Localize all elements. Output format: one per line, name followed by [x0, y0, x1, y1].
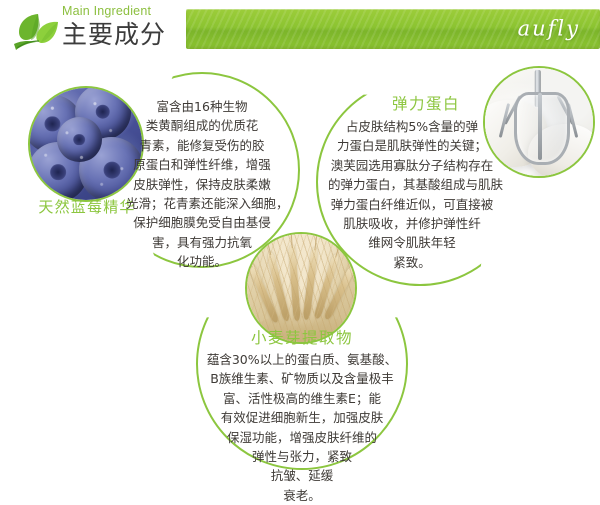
elastin-title: 弹力蛋白 [356, 92, 496, 114]
text-line: 富含由16种生物 [126, 97, 278, 116]
header-english-title: Main Ingredient [62, 4, 166, 19]
text-line: 衰老。 [192, 486, 412, 505]
text-line: 弹力蛋白纤维近似，可直接被 [328, 195, 496, 214]
whisk-cream-photo [483, 66, 595, 178]
text-line: B族维生素、矿物质以及含量极丰 [192, 369, 412, 388]
text-line: 力蛋白是肌肤弹性的关键； [328, 136, 496, 155]
text-line: 青素，能修复受伤的胶 [126, 136, 278, 155]
text-line: 澳芙园选用寡肽分子结构存在 [328, 156, 496, 175]
text-line: 光滑；花青素还能深入细胞， [126, 194, 278, 213]
wheat-germ-description: 蕴含30%以上的蛋白质、氨基酸、 B族维生素、矿物质以及含量极丰 富、活性极高的… [192, 350, 412, 505]
text-line: 抗皱、延缓 [192, 466, 412, 485]
text-line: 占皮肤结构5%含量的弹 [328, 117, 496, 136]
text-line: 有效促进细胞新生，加强皮肤 [192, 408, 412, 427]
text-line: 的弹力蛋白，其基酸组成与肌肤 [328, 175, 496, 194]
header-chinese-title: 主要成分 [62, 20, 166, 50]
text-line: 皮肤弹性，保持皮肤柔嫩 [126, 175, 278, 194]
header-banner: aufly [186, 9, 600, 49]
brand-logo: aufly [518, 17, 580, 41]
header-titles: Main Ingredient 主要成分 [62, 4, 166, 50]
text-line: 保护细胞膜免受自由基侵 [126, 213, 278, 232]
page-header: Main Ingredient 主要成分 aufly [0, 0, 600, 58]
text-line: 类黄酮组成的优质花 [126, 116, 278, 135]
wheat-germ-title: 小麦芽提取物 [232, 326, 372, 348]
text-line: 蕴含30%以上的蛋白质、氨基酸、 [192, 350, 412, 369]
text-line: 肌肤吸收，并修护弹性纤 [328, 214, 496, 233]
text-line: 原蛋白和弹性纤维，增强 [126, 155, 278, 174]
leaf-icon [8, 10, 62, 54]
text-line: 保湿功能，增强皮肤纤维的 [192, 428, 412, 447]
text-line: 弹性与张力，紧致 [192, 447, 412, 466]
text-line: 富、活性极高的维生素E；能 [192, 389, 412, 408]
